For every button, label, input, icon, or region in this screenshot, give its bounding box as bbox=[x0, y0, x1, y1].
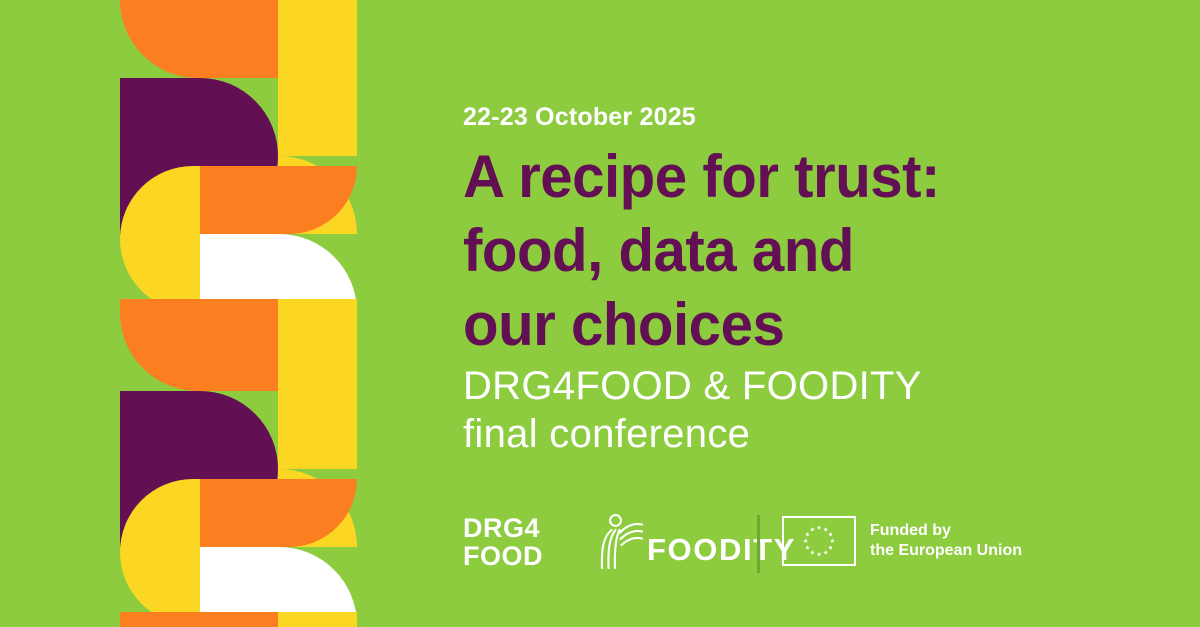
pattern-tile bbox=[278, 391, 357, 469]
pattern-tile bbox=[278, 299, 357, 391]
eu-funding-line-2: the European Union bbox=[870, 541, 1022, 561]
event-date: 22-23 October 2025 bbox=[463, 103, 696, 132]
event-subtitle: DRG4FOOD & FOODITY final conference bbox=[463, 362, 1183, 458]
headline-line-1: A recipe for trust: bbox=[463, 140, 1161, 214]
pattern-tile bbox=[120, 391, 278, 469]
eu-star bbox=[805, 532, 810, 536]
eu-flag-icon bbox=[782, 516, 856, 566]
eu-funding-badge: Funded by the European Union bbox=[782, 516, 1022, 566]
logo-divider bbox=[757, 515, 760, 573]
foodity-wordmark: FOODITY bbox=[647, 534, 796, 565]
drg4food-logo-line-2: FOOD bbox=[463, 542, 543, 570]
decorative-tile-pattern bbox=[0, 0, 380, 627]
pattern-tile bbox=[278, 612, 357, 627]
subtitle-line-1: DRG4FOOD & FOODITY bbox=[463, 362, 1183, 410]
pattern-tile bbox=[278, 0, 357, 78]
eu-star bbox=[830, 539, 835, 543]
eu-funding-text: Funded by the European Union bbox=[870, 521, 1022, 561]
foodity-logo: FOODITY bbox=[599, 509, 796, 573]
eu-star bbox=[828, 545, 833, 549]
eu-stars-icon bbox=[784, 518, 854, 564]
pattern-tile bbox=[120, 78, 278, 156]
poster-content: 22-23 October 2025 A recipe for trust: f… bbox=[463, 0, 1200, 627]
eu-star bbox=[803, 539, 808, 543]
eu-star bbox=[810, 527, 815, 531]
drg4food-logo-line-1: DRG4 bbox=[463, 514, 543, 542]
eu-star bbox=[823, 527, 828, 531]
headline-line-2: food, data and bbox=[463, 214, 1161, 288]
drg4food-logo: DRG4 FOOD bbox=[463, 514, 543, 570]
eu-funding-line-1: Funded by bbox=[870, 521, 1022, 541]
subtitle-line-2: final conference bbox=[463, 410, 1183, 458]
headline-line-3: our choices bbox=[463, 288, 1161, 362]
pattern-tile bbox=[278, 78, 357, 156]
conference-poster: 22-23 October 2025 A recipe for trust: f… bbox=[0, 0, 1200, 627]
eu-star bbox=[817, 552, 822, 556]
foodity-figure-icon bbox=[599, 513, 645, 569]
eu-star bbox=[823, 550, 828, 554]
eu-star bbox=[810, 550, 815, 554]
eu-star bbox=[828, 532, 833, 536]
logo-strip: DRG4 FOOD FOODITY bbox=[463, 505, 1200, 585]
eu-star bbox=[817, 525, 822, 529]
eu-star bbox=[805, 545, 810, 549]
page-title: A recipe for trust: food, data and our c… bbox=[463, 140, 1183, 362]
